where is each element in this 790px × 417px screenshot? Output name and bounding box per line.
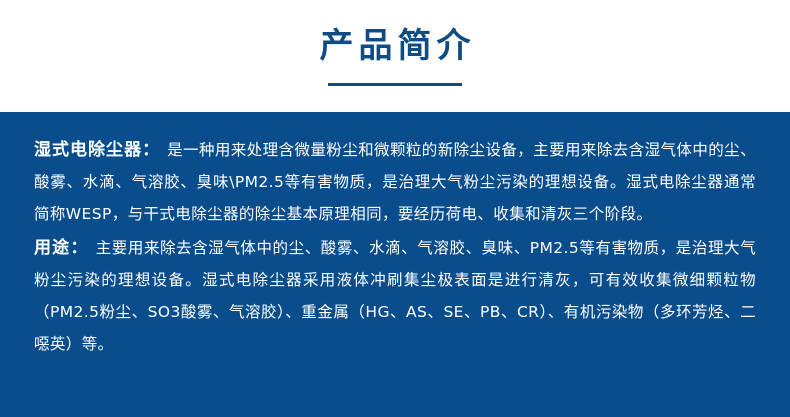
page-header: 产品简介	[0, 0, 790, 112]
paragraph-body-text: 主要用来除去含湿气体中的尘、酸雾、水滴、气溶胶、臭味、PM2.5等有害物质，是治…	[34, 239, 756, 353]
title-underline-rule	[328, 83, 462, 86]
description-panel: 湿式电除尘器：是一种用来处理含微量粉尘和微颗粒的新除尘设备，主要用来除去含湿气体…	[0, 112, 790, 417]
page-title: 产品简介	[315, 24, 476, 68]
product-introduction-page: 产品简介 湿式电除尘器：是一种用来处理含微量粉尘和微颗粒的新除尘设备，主要用来除…	[0, 0, 790, 417]
paragraph-lead-label: 湿式电除尘器：	[34, 140, 160, 160]
paragraph-lead-label: 用途：	[34, 238, 89, 258]
paragraph-usage-description: 用途：主要用来除去含湿气体中的尘、酸雾、水滴、气溶胶、臭味、PM2.5等有害物质…	[34, 232, 756, 360]
paragraph-product-description: 湿式电除尘器：是一种用来处理含微量粉尘和微颗粒的新除尘设备，主要用来除去含湿气体…	[34, 134, 756, 230]
